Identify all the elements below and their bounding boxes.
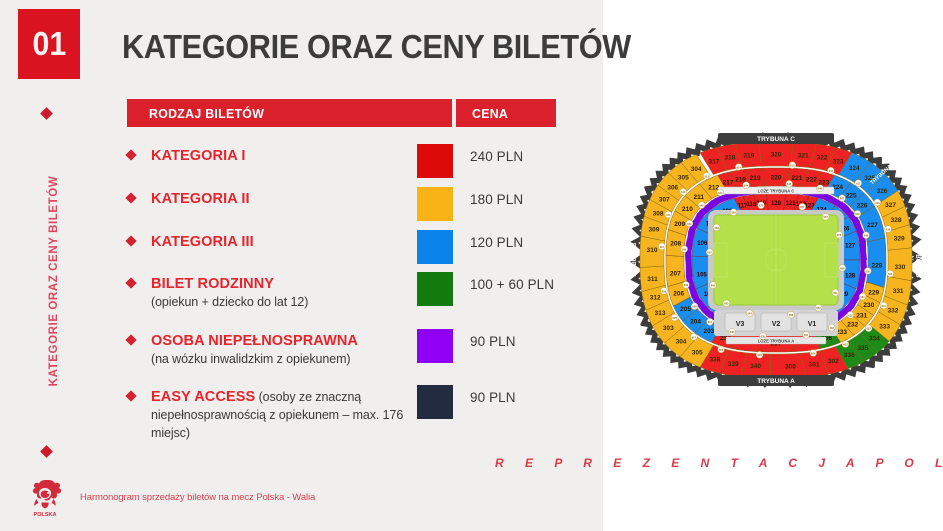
sector-label: 222: [806, 177, 817, 184]
table-row: BILET RODZINNY(opiekun + dziecko do lat …: [127, 275, 557, 310]
sector-label: 310: [647, 247, 658, 254]
sector-label: 317: [708, 159, 719, 166]
gate-label: 638: [692, 305, 697, 309]
sector-label: 232: [847, 322, 858, 329]
gate-label: 640: [682, 247, 687, 251]
gate-label: 601: [882, 304, 887, 308]
gate-label: 639: [684, 283, 689, 287]
loge-top-label: LOŻE TRYBUNA C: [758, 189, 795, 194]
diamond-bullet-icon: [125, 390, 136, 401]
sector-label: 305: [678, 174, 689, 181]
gate-label: 635: [761, 335, 766, 339]
gate-label: 644: [744, 184, 749, 188]
sector-label: 105: [697, 272, 708, 278]
page-title: KATEGORIE ORAZ CENY BILETÓW: [122, 28, 631, 66]
gate-label: 649: [864, 234, 869, 238]
gate-label: 604: [811, 351, 816, 355]
category-color-swatch: [417, 144, 453, 178]
pzpn-eagle-logo-icon: POLSKA: [26, 476, 64, 518]
category-color-swatch: [417, 187, 453, 221]
gate-label: 672: [823, 215, 828, 219]
gate-label: 632: [848, 313, 853, 317]
gate-label: 648: [855, 212, 860, 216]
category-color-swatch: [417, 230, 453, 264]
gate-label: 664: [748, 312, 753, 316]
gate-label: 661: [833, 291, 838, 295]
sector-label: 336: [844, 352, 855, 359]
sector-label: 118: [746, 202, 756, 208]
gate-label: 645: [787, 182, 792, 186]
ticket-price: 120 PLN: [470, 235, 523, 250]
gate-label: 609: [662, 289, 667, 293]
gate-label: 671: [800, 205, 805, 209]
sector-label: 219: [750, 175, 761, 182]
table-row: KATEGORIA II180 PLN: [127, 190, 557, 208]
sector-label: 220: [771, 175, 782, 182]
gate-label: 646: [818, 187, 823, 191]
gate-label: 602: [866, 327, 871, 331]
sector-label: 339: [728, 361, 739, 368]
sidebar-vertical-label: KATEGORIE ORAZ CENY BILETÓW: [48, 151, 60, 411]
sector-label: 306: [667, 185, 678, 192]
slide-root: 01 KATEGORIE ORAZ CENY BILETÓW KATEGORIE…: [0, 0, 943, 531]
ticket-type-cell: KATEGORIA III: [151, 233, 426, 251]
table-header-price: CENA: [456, 99, 556, 127]
tribune-label-d: TRYBUNA D: [914, 243, 920, 279]
gate-label: 610: [660, 245, 665, 249]
sector-label: 334: [869, 336, 880, 343]
diamond-bullet-icon: [125, 149, 136, 160]
table-row: KATEGORIA I240 PLN: [127, 147, 557, 165]
ticket-price: 100 + 60 PLN: [470, 277, 554, 292]
sector-label: 305: [692, 350, 703, 357]
gate-label: 607: [692, 335, 697, 339]
sector-label: 320: [771, 152, 782, 159]
sector-label: 228: [872, 263, 883, 270]
gate-label: 631: [860, 295, 865, 299]
sector-label: 324: [849, 165, 860, 172]
category-color-swatch: [417, 329, 453, 363]
category-color-swatch: [417, 272, 453, 306]
ticket-price: 180 PLN: [470, 192, 523, 207]
sector-label: 207: [670, 270, 681, 277]
sector-label: 208: [670, 240, 681, 247]
gate-label: 669: [731, 211, 736, 215]
ticket-type-cell: OSOBA NIEPEŁNOSPRAWNA(na wózku inwalidzk…: [151, 332, 426, 367]
stadium-seating-map[interactable]: 3173183193203213223233243253263273283293…: [628, 127, 924, 397]
ticket-type-note: (na wózku inwalidzkim z opiekunem): [151, 351, 426, 367]
gate-label: 642: [699, 204, 704, 208]
gate-label: 608: [672, 316, 677, 320]
ticket-type-name: KATEGORIA I: [151, 148, 246, 164]
gate-label: 614: [737, 165, 742, 169]
sector-label: 318: [725, 155, 736, 162]
diamond-bullet-icon: [125, 277, 136, 288]
sector-label: 321: [798, 152, 809, 159]
sector-label: 304: [676, 339, 687, 346]
footer: POLSKA Harmonogram sprzedaży biletów na …: [26, 476, 315, 518]
sector-label: 329: [894, 235, 905, 242]
gate-label: 636: [730, 330, 735, 334]
sector-label: 227: [867, 222, 878, 229]
ticket-type-cell: KATEGORIA I: [151, 147, 426, 165]
ticket-type-name: OSOBA NIEPEŁNOSPRAWNA: [151, 333, 358, 349]
sector-label: 127: [845, 243, 856, 249]
sector-label: 340: [750, 363, 761, 370]
ticket-price: 240 PLN: [470, 149, 523, 164]
sector-label: 333: [879, 323, 890, 330]
ticket-type-name: EASY ACCESS: [151, 389, 255, 405]
table-row: OSOBA NIEPEŁNOSPRAWNA(na wózku inwalidzk…: [127, 332, 557, 367]
gate-label: 618: [875, 201, 880, 205]
sector-label: 330: [895, 264, 906, 271]
ticket-type-name: KATEGORIA III: [151, 234, 254, 250]
sector-label: 209: [674, 221, 685, 228]
gate-label: 666: [711, 284, 716, 288]
sector-label: 205: [680, 306, 691, 313]
table-row: KATEGORIA III120 PLN: [127, 233, 557, 251]
sector-label: 231: [856, 313, 867, 320]
vip-label: V3: [736, 321, 745, 328]
gate-label: 670: [759, 204, 764, 208]
sector-label: 206: [673, 291, 684, 298]
sector-label: 128: [845, 273, 856, 279]
sector-label: 303: [663, 325, 674, 332]
sector-label: 302: [828, 358, 839, 365]
gate-label: 615: [790, 164, 795, 168]
gate-label: 600: [888, 272, 893, 276]
sector-label: 309: [649, 227, 660, 234]
sector-label: 106: [697, 241, 708, 247]
sector-label: 226: [857, 203, 868, 210]
diamond-bullet-icon: [125, 334, 136, 345]
sector-label: 312: [650, 295, 661, 302]
gate-label: 667: [707, 250, 712, 254]
sector-label: 308: [653, 210, 664, 217]
sector-label: 322: [817, 155, 828, 162]
sector-label: 326: [877, 188, 888, 195]
gate-label: 630: [866, 269, 871, 273]
table-header-type: RODZAJ BILETÓW: [127, 99, 452, 127]
sector-label: 304: [691, 166, 702, 173]
sector-label: 225: [846, 192, 857, 199]
gate-label: 633: [830, 326, 835, 330]
category-color-swatch: [417, 385, 453, 419]
gate-label: 673: [837, 233, 842, 237]
sector-label: 217: [723, 179, 734, 186]
diamond-bullet-icon: [125, 192, 136, 203]
table-row: EASY ACCESS (osoby ze znaczną niepełnosp…: [127, 388, 557, 442]
ticket-price: 90 PLN: [470, 334, 516, 349]
ticket-type-cell: KATEGORIA II: [151, 190, 426, 208]
stadium-svg[interactable]: 3173183193203213223233243253263273283293…: [628, 127, 924, 397]
vip-label: V1: [808, 321, 817, 328]
sector-label: 335: [857, 345, 868, 352]
sector-label: 221: [792, 175, 803, 182]
sector-label: 313: [655, 310, 666, 317]
gate-label: 613: [704, 174, 709, 178]
sector-label: 210: [682, 206, 693, 213]
sector-label: 300: [785, 363, 796, 370]
slide-number-badge: 01: [18, 9, 80, 79]
gate-label: 668: [714, 226, 719, 230]
gate-label: 616: [829, 169, 834, 173]
slide-number: 01: [32, 25, 66, 63]
sector-label: 332: [888, 307, 899, 314]
gate-label: 617: [856, 181, 861, 185]
gate-label: 641: [687, 222, 692, 226]
sector-label: 121: [786, 201, 797, 207]
table-header-type-label: RODZAJ BILETÓW: [149, 106, 264, 121]
ticket-type-cell: EASY ACCESS (osoby ze znaczną niepełnosp…: [151, 388, 426, 442]
gate-label: 605: [757, 353, 762, 357]
sector-label: 307: [659, 196, 670, 203]
sector-label: 230: [863, 302, 874, 309]
ticket-type-cell: BILET RODZINNY(opiekun + dziecko do lat …: [151, 275, 426, 310]
sector-label: 211: [694, 194, 705, 201]
gate-label: 634: [804, 333, 809, 337]
sector-label: 203: [703, 328, 714, 335]
gate-label: 643: [718, 191, 723, 195]
sector-label: 327: [885, 202, 896, 209]
sector-label: 204: [690, 318, 701, 325]
gate-label: 660: [840, 266, 845, 270]
tribune-label-b: TRYBUNA B: [632, 242, 638, 278]
gate-label: 637: [708, 320, 713, 324]
ticket-type-note: (opiekun + dziecko do lat 12): [151, 294, 426, 310]
gate-label: 665: [724, 302, 729, 306]
sector-label: 319: [743, 152, 754, 159]
sector-label: 331: [893, 288, 904, 295]
gate-label: 619: [886, 228, 891, 232]
left-panel: [0, 0, 603, 531]
ticket-price: 90 PLN: [470, 390, 516, 405]
footer-note: Harmonogram sprzedaży biletów na mecz Po…: [80, 492, 315, 503]
logo-word: POLSKA: [34, 512, 57, 518]
diamond-bullet-icon: [125, 235, 136, 246]
gate-label: 603: [843, 343, 848, 347]
gate-label: 612: [681, 190, 686, 194]
gate-label: 606: [719, 348, 724, 352]
sector-label: 328: [891, 217, 902, 224]
tribune-label-c: TRYBUNA C: [757, 136, 795, 143]
sector-label: 120: [771, 201, 782, 207]
ticket-type-name: BILET RODZINNY: [151, 276, 274, 292]
sector-label: 229: [868, 289, 879, 296]
vip-label: V2: [772, 321, 781, 328]
sector-label: 323: [833, 159, 844, 166]
sector-label: 338: [709, 357, 720, 364]
gate-label: 663: [789, 313, 794, 317]
ticket-type-name: KATEGORIA II: [151, 191, 250, 207]
tribune-label-a: TRYBUNA A: [757, 378, 795, 385]
brand-word: R E P R E Z E N T A C J A P O L S K I: [495, 456, 943, 470]
sector-label: 301: [809, 362, 820, 369]
gate-label: 647: [840, 197, 845, 201]
table-header-price-label: CENA: [472, 106, 508, 121]
gate-label: 611: [666, 213, 671, 217]
sector-label: 311: [647, 276, 658, 283]
gate-label: 662: [816, 306, 821, 310]
